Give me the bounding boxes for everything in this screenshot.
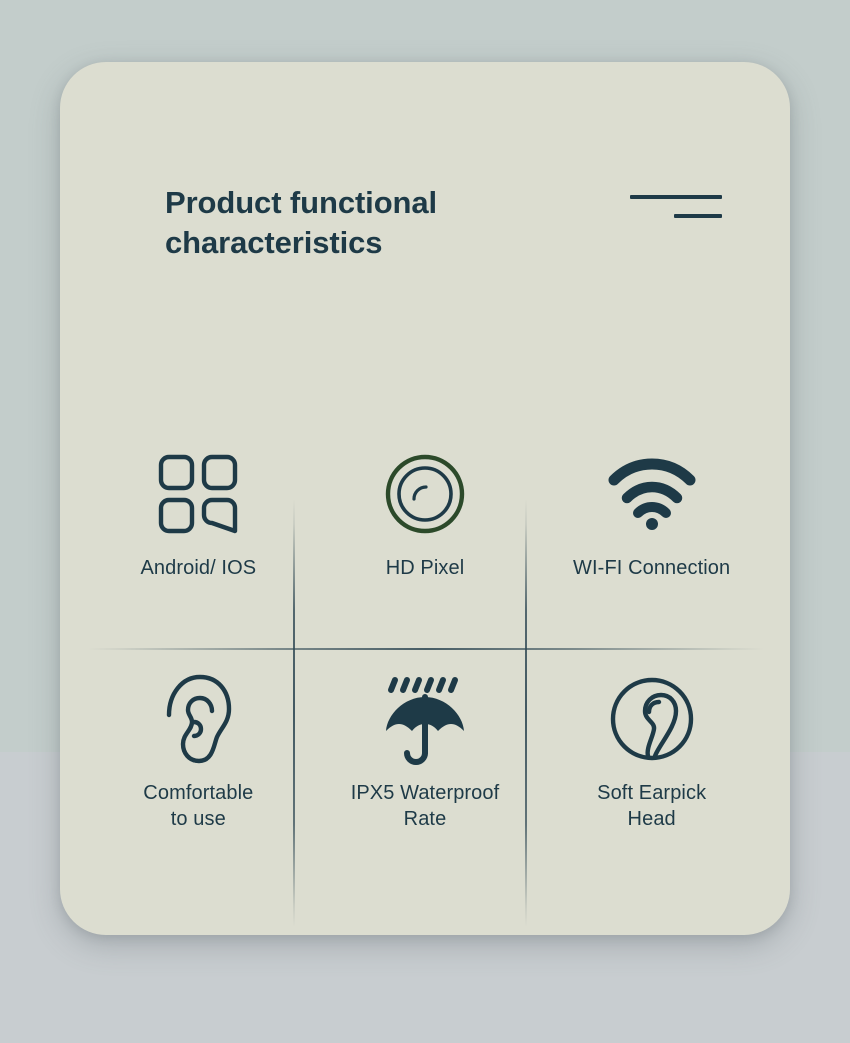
- feature-item-comfortable[interactable]: Comfortable to use: [85, 657, 312, 882]
- earpick-head-icon: [609, 671, 695, 767]
- page-title: Product functional characteristics: [165, 183, 565, 262]
- feature-item-wifi[interactable]: WI-FI Connection: [538, 432, 765, 657]
- grid-divider-horizontal: [88, 648, 764, 650]
- header-decorative-rule: [630, 192, 722, 226]
- feature-label: Soft Earpick Head: [597, 781, 706, 832]
- ear-icon: [163, 671, 233, 767]
- grid-squares-icon: [157, 446, 239, 542]
- feature-label: Comfortable to use: [143, 781, 253, 832]
- feature-label: WI-FI Connection: [573, 556, 730, 582]
- feature-item-soft-earpick[interactable]: Soft Earpick Head: [538, 657, 765, 882]
- feature-item-waterproof[interactable]: IPX5 Waterproof Rate: [312, 657, 539, 882]
- feature-grid: Android/ IOS HD Pixel: [85, 432, 765, 882]
- feature-label: IPX5 Waterproof Rate: [351, 781, 500, 832]
- feature-item-hd-pixel[interactable]: HD Pixel: [312, 432, 539, 657]
- feature-label: Android/ IOS: [140, 556, 256, 582]
- umbrella-rain-icon: [379, 671, 471, 767]
- feature-item-android-ios[interactable]: Android/ IOS: [85, 432, 312, 657]
- camera-lens-icon: [384, 446, 466, 542]
- product-feature-card: Product functional characteristics Andro…: [60, 62, 790, 935]
- grid-divider-vertical-right: [525, 499, 527, 927]
- decorative-line-short-icon: [674, 214, 722, 218]
- grid-divider-vertical-left: [293, 499, 295, 927]
- wifi-icon: [607, 446, 697, 542]
- decorative-line-long-icon: [630, 195, 722, 199]
- card-header: Product functional characteristics: [60, 62, 790, 292]
- feature-label: HD Pixel: [386, 556, 465, 582]
